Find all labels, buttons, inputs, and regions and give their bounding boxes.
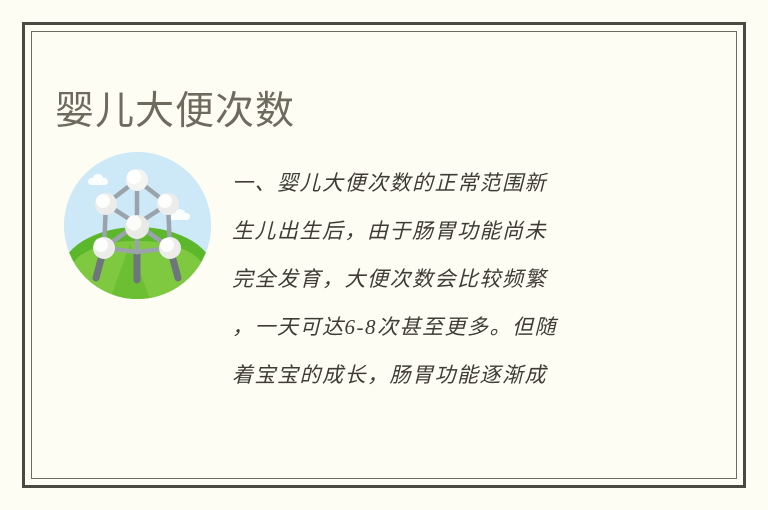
- page-title: 婴儿大便次数: [55, 89, 295, 135]
- atomium-illustration: [64, 152, 211, 299]
- article-line: 完全发育，大便次数会比较频繁: [232, 255, 652, 303]
- article-body: 一、婴儿大便次数的正常范围新 生儿出生后，由于肠胃功能尚未 完全发育，大便次数会…: [232, 159, 652, 399]
- atomium-structure-icon: [64, 152, 211, 299]
- article-line: ，一天可达6-8次甚至更多。但随: [232, 303, 652, 351]
- article-line: 生儿出生后，由于肠胃功能尚未: [232, 207, 652, 255]
- article-card-page: 婴儿大便次数: [0, 0, 768, 510]
- article-line: 着宝宝的成长，肠胃功能逐渐成: [232, 351, 652, 399]
- card-content: 婴儿大便次数: [31, 31, 737, 479]
- article-line: 一、婴儿大便次数的正常范围新: [232, 159, 652, 207]
